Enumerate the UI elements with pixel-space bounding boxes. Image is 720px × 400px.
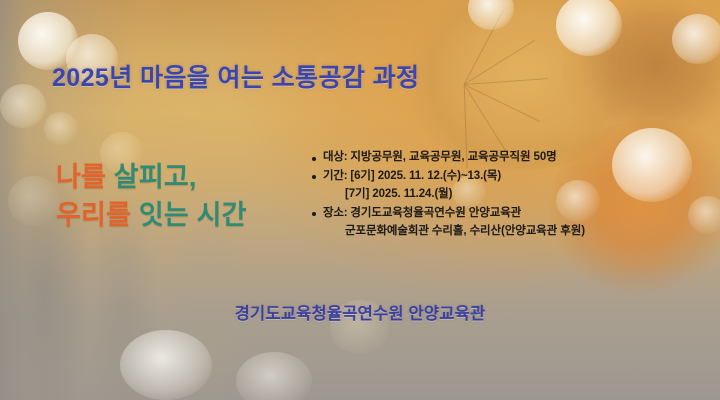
detail-text: 기간: [6기] 2025. 11. 12.(수)~13.(목) bbox=[323, 171, 712, 183]
bokeh-highlight bbox=[120, 330, 212, 400]
detail-value: 경기도교육청율곡연수원 안양교육관 bbox=[350, 207, 521, 219]
bullet-dot-icon bbox=[312, 175, 316, 179]
detail-item-audience: 대상: 지방공무원, 교육공무원, 교육공무직원 50명 bbox=[312, 152, 712, 164]
bokeh-highlight bbox=[8, 176, 60, 226]
detail-value: 지방공무원, 교육공무원, 교육공무직원 50명 bbox=[350, 151, 556, 163]
detail-item-venue-second: 군포문화예술회관 수리홀, 수리산(안양교육관 후원) bbox=[345, 226, 712, 238]
bokeh-highlight bbox=[0, 84, 46, 128]
slogan-line1-rest: 살피고, bbox=[114, 162, 197, 192]
slogan-line-2: 우리를 잇는 시간 bbox=[56, 196, 247, 234]
detail-value: 군포문화예술회관 수리홀, 수리산(안양교육관 후원) bbox=[345, 225, 585, 237]
bullet-dot-icon bbox=[312, 157, 316, 161]
slogan-line2-highlight: 우리를 bbox=[56, 200, 139, 230]
details-list: 대상: 지방공무원, 교육공무원, 교육공무직원 50명 기간: [6기] 20… bbox=[312, 152, 712, 245]
detail-label: 기간: bbox=[323, 170, 350, 182]
detail-label: 대상: bbox=[323, 151, 350, 163]
page-title: 2025년 마음을 여는 소통공감 과정 bbox=[52, 58, 419, 94]
detail-text: 장소: 경기도교육청율곡연수원 안양교육관 bbox=[323, 208, 712, 220]
slogan-block: 나를 살피고, 우리를 잇는 시간 bbox=[56, 158, 247, 235]
detail-item-venue: 장소: 경기도교육청율곡연수원 안양교육관 bbox=[312, 208, 712, 220]
detail-value: [6기] 2025. 11. 12.(수)~13.(목) bbox=[350, 170, 501, 182]
leaf-veins bbox=[430, 10, 610, 160]
detail-value: [7기] 2025. 11.24.(월) bbox=[345, 188, 452, 200]
organization-footer: 경기도교육청율곡연수원 안양교육관 bbox=[0, 300, 720, 324]
bokeh-highlight bbox=[44, 112, 78, 145]
slogan-line2-rest: 잇는 시간 bbox=[139, 200, 247, 230]
detail-label: 장소: bbox=[323, 207, 350, 219]
detail-item-period-second: [7기] 2025. 11.24.(월) bbox=[345, 189, 712, 201]
slogan-line1-highlight: 나를 bbox=[56, 162, 114, 192]
detail-item-period: 기간: [6기] 2025. 11. 12.(수)~13.(목) bbox=[312, 171, 712, 183]
slogan-line-1: 나를 살피고, bbox=[56, 158, 247, 196]
bokeh-highlight bbox=[236, 352, 312, 400]
bullet-dot-icon bbox=[312, 212, 316, 216]
detail-text: 대상: 지방공무원, 교육공무원, 교육공무직원 50명 bbox=[323, 152, 712, 164]
poster-canvas: 2025년 마음을 여는 소통공감 과정 나를 살피고, 우리를 잇는 시간 대… bbox=[0, 0, 720, 400]
